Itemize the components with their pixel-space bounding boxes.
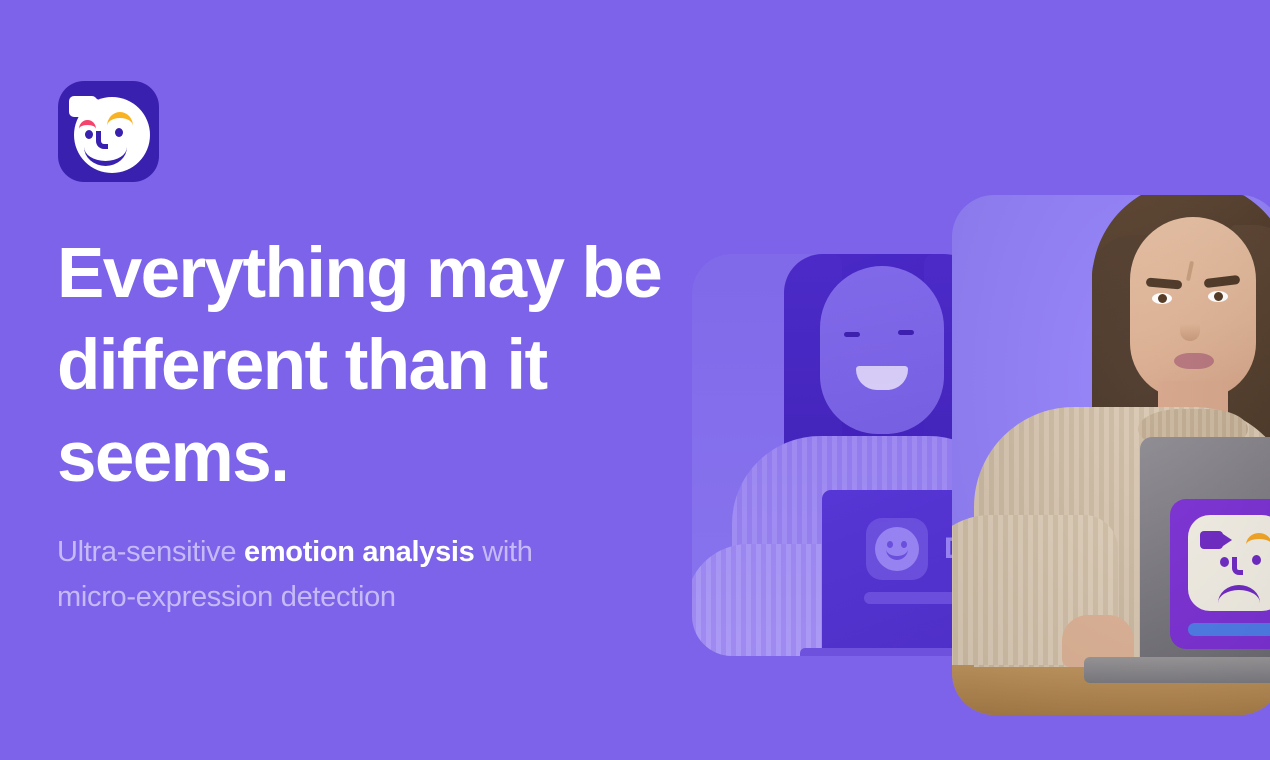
person-eye-left-back [844,332,860,337]
camera-body [69,96,97,117]
camera-lens [1220,532,1232,548]
media-card-front [952,195,1270,715]
hero-section: Everything may be different than it seem… [0,0,1270,760]
person-eye-right-front [1208,291,1228,302]
video-camera-icon [1200,529,1234,551]
person-nose-front [1180,307,1200,341]
sad-face-icon [1188,515,1270,611]
mask-eye-right [1252,555,1261,565]
person-mouth-front [1174,353,1214,369]
person-eye-right-back [898,330,914,335]
screen-badge-back [866,518,928,580]
mask-nose [1232,557,1243,575]
fullcolor-photo-scene [952,195,1270,715]
subtitle-prefix: Ultra-sensitive [57,536,244,568]
video-camera-icon [69,93,110,120]
mask-eye-left [1220,557,1229,567]
laptop-base-front [1084,657,1270,683]
logo-eye-right [115,128,123,137]
camera-lens [94,97,108,115]
page-title: Everything may be different than it seem… [57,228,677,504]
subtitle-emphasis: emotion analysis [244,536,475,568]
logo-eye-left [85,130,93,139]
page-subtitle: Ultra-sensitive emotion analysis with mi… [57,530,617,620]
laptop-front [1140,437,1270,665]
person-face-back [820,266,944,434]
mask-frown [1218,585,1260,603]
mask-eyebrow-yellow-icon [1246,533,1270,545]
person-pupil-right [1214,292,1223,301]
person-eye-left-front [1152,293,1172,304]
happy-face-icon [875,527,919,571]
screen-progress-bar-front [1188,623,1270,636]
smiley-mouth [886,549,908,560]
person-pupil-left [1158,294,1167,303]
smiley-eye-right [901,541,907,548]
app-logo[interactable] [58,81,159,182]
smiley-eye-left [887,541,893,548]
screen-panel-front [1170,499,1270,649]
